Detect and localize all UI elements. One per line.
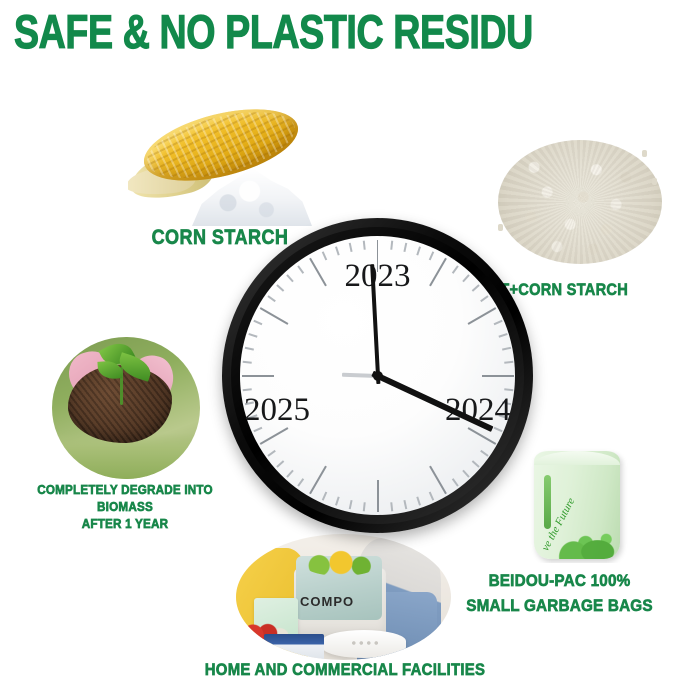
caption-degrade-biomass: COMPLETELY DEGRADE INTO BIOMASS AFTER 1 … xyxy=(13,481,238,532)
bioplastic-pellets-photo xyxy=(492,132,668,272)
kitchen-compost-bin-photo: COMPO xyxy=(236,534,451,660)
page-title: SAFE & NO PLASTIC RESIDU xyxy=(14,6,533,58)
caption-home-commercial: HOME AND COMMERCIAL FACILITIES xyxy=(156,660,534,680)
green-garbage-bag-roll-photo: ve the Future xyxy=(528,447,632,563)
hands-planting-seedling-in-soil-photo xyxy=(52,337,200,479)
caption-bags-line1: BEIDOU-PAC 100% xyxy=(489,571,631,590)
product-infographic: SAFE & NO PLASTIC RESIDU CORN STARCH PLA… xyxy=(0,0,679,687)
caption-bags-line2: SMALL GARBAGE BAGS xyxy=(466,596,653,615)
clock-face: 2023 2024 2025 xyxy=(240,236,515,515)
wall-clock: 2023 2024 2025 xyxy=(222,218,533,533)
clock-center-cap xyxy=(373,371,383,381)
clock-year-left: 2025 xyxy=(244,392,310,429)
compost-bin-lid xyxy=(322,630,406,658)
pellet-stray xyxy=(652,178,657,185)
pellet-stray xyxy=(642,150,647,157)
caption-degrade-line1: COMPLETELY DEGRADE INTO BIOMASS xyxy=(37,482,213,514)
caption-beidou-pac-bags: BEIDOU-PAC 100% SMALL GARBAGE BAGS xyxy=(452,568,667,618)
pellet-pile xyxy=(498,140,662,264)
vegetable-scraps xyxy=(302,550,380,576)
garbage-bag-roll: ve the Future xyxy=(534,451,620,559)
product-box xyxy=(264,634,324,660)
compost-bin-label: COMPO xyxy=(300,594,354,609)
corn-cob-and-starch-powder-photo xyxy=(128,96,314,226)
roll-top-edge xyxy=(534,451,620,465)
caption-degrade-line2: AFTER 1 YEAR xyxy=(82,516,168,531)
pellet-stray xyxy=(498,224,503,231)
clock-year-top: 2023 xyxy=(345,258,411,295)
